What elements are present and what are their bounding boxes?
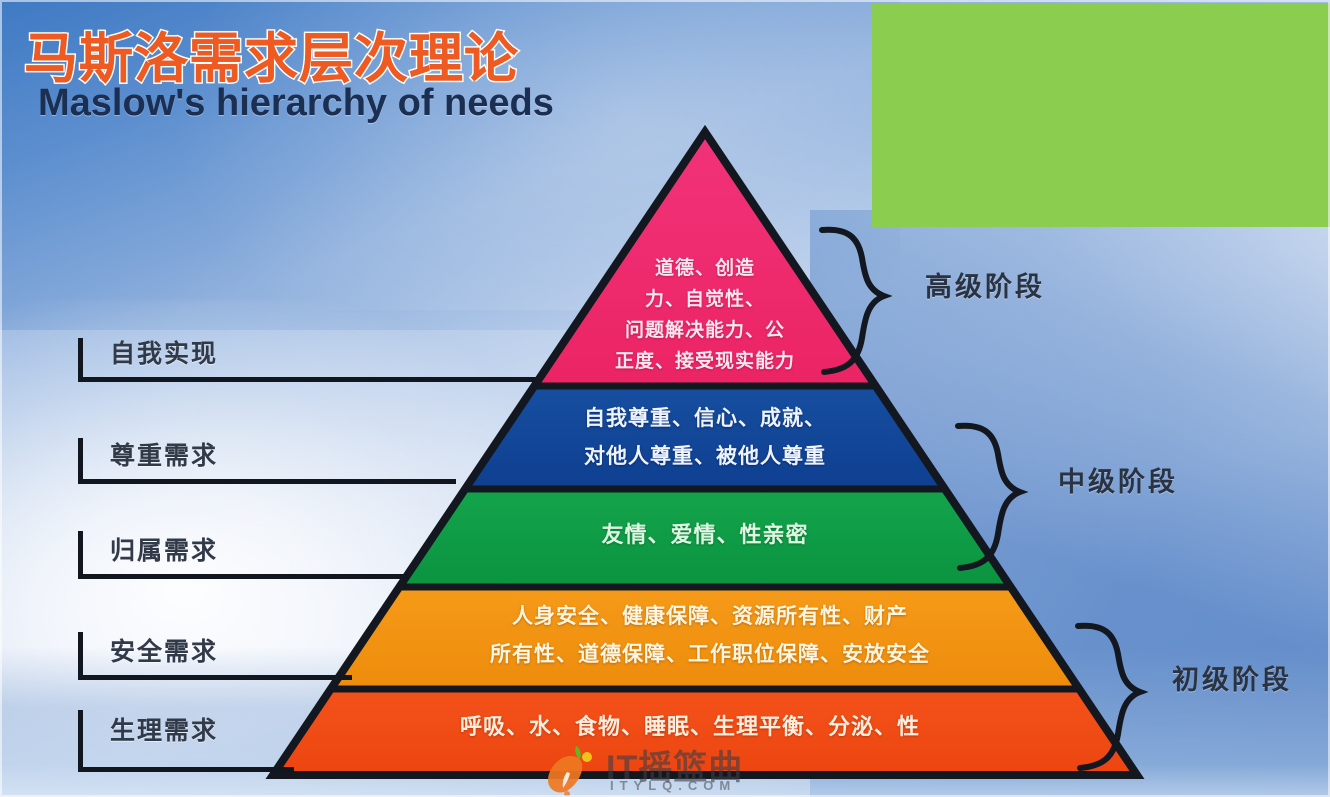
- stage-label-advanced: 高级阶段: [925, 265, 1045, 304]
- carrot-logo-icon: [540, 742, 602, 796]
- poster-canvas: 马斯洛需求层次理论 马斯洛需求层次理论 Maslow's hierarchy o…: [0, 0, 1330, 797]
- stage-label-primary: 初级阶段: [1172, 658, 1292, 697]
- left-label-self-actualization: 自我实现: [110, 334, 218, 370]
- left-label-love: 归属需求: [110, 531, 218, 567]
- watermark: IT摇篮曲 ITYLQ.COM: [540, 742, 840, 797]
- stage-label-intermediate: 中级阶段: [1058, 460, 1178, 499]
- left-label-physiological: 生理需求: [110, 711, 218, 747]
- green-overlay-rectangle: [872, 3, 1330, 227]
- left-label-esteem: 尊重需求: [110, 436, 218, 472]
- brace-advanced-stage: [812, 222, 932, 382]
- brace-primary-stage: [1068, 618, 1188, 778]
- watermark-url: ITYLQ.COM: [610, 778, 736, 793]
- left-label-safety: 安全需求: [110, 632, 218, 668]
- brace-intermediate-stage: [948, 418, 1068, 578]
